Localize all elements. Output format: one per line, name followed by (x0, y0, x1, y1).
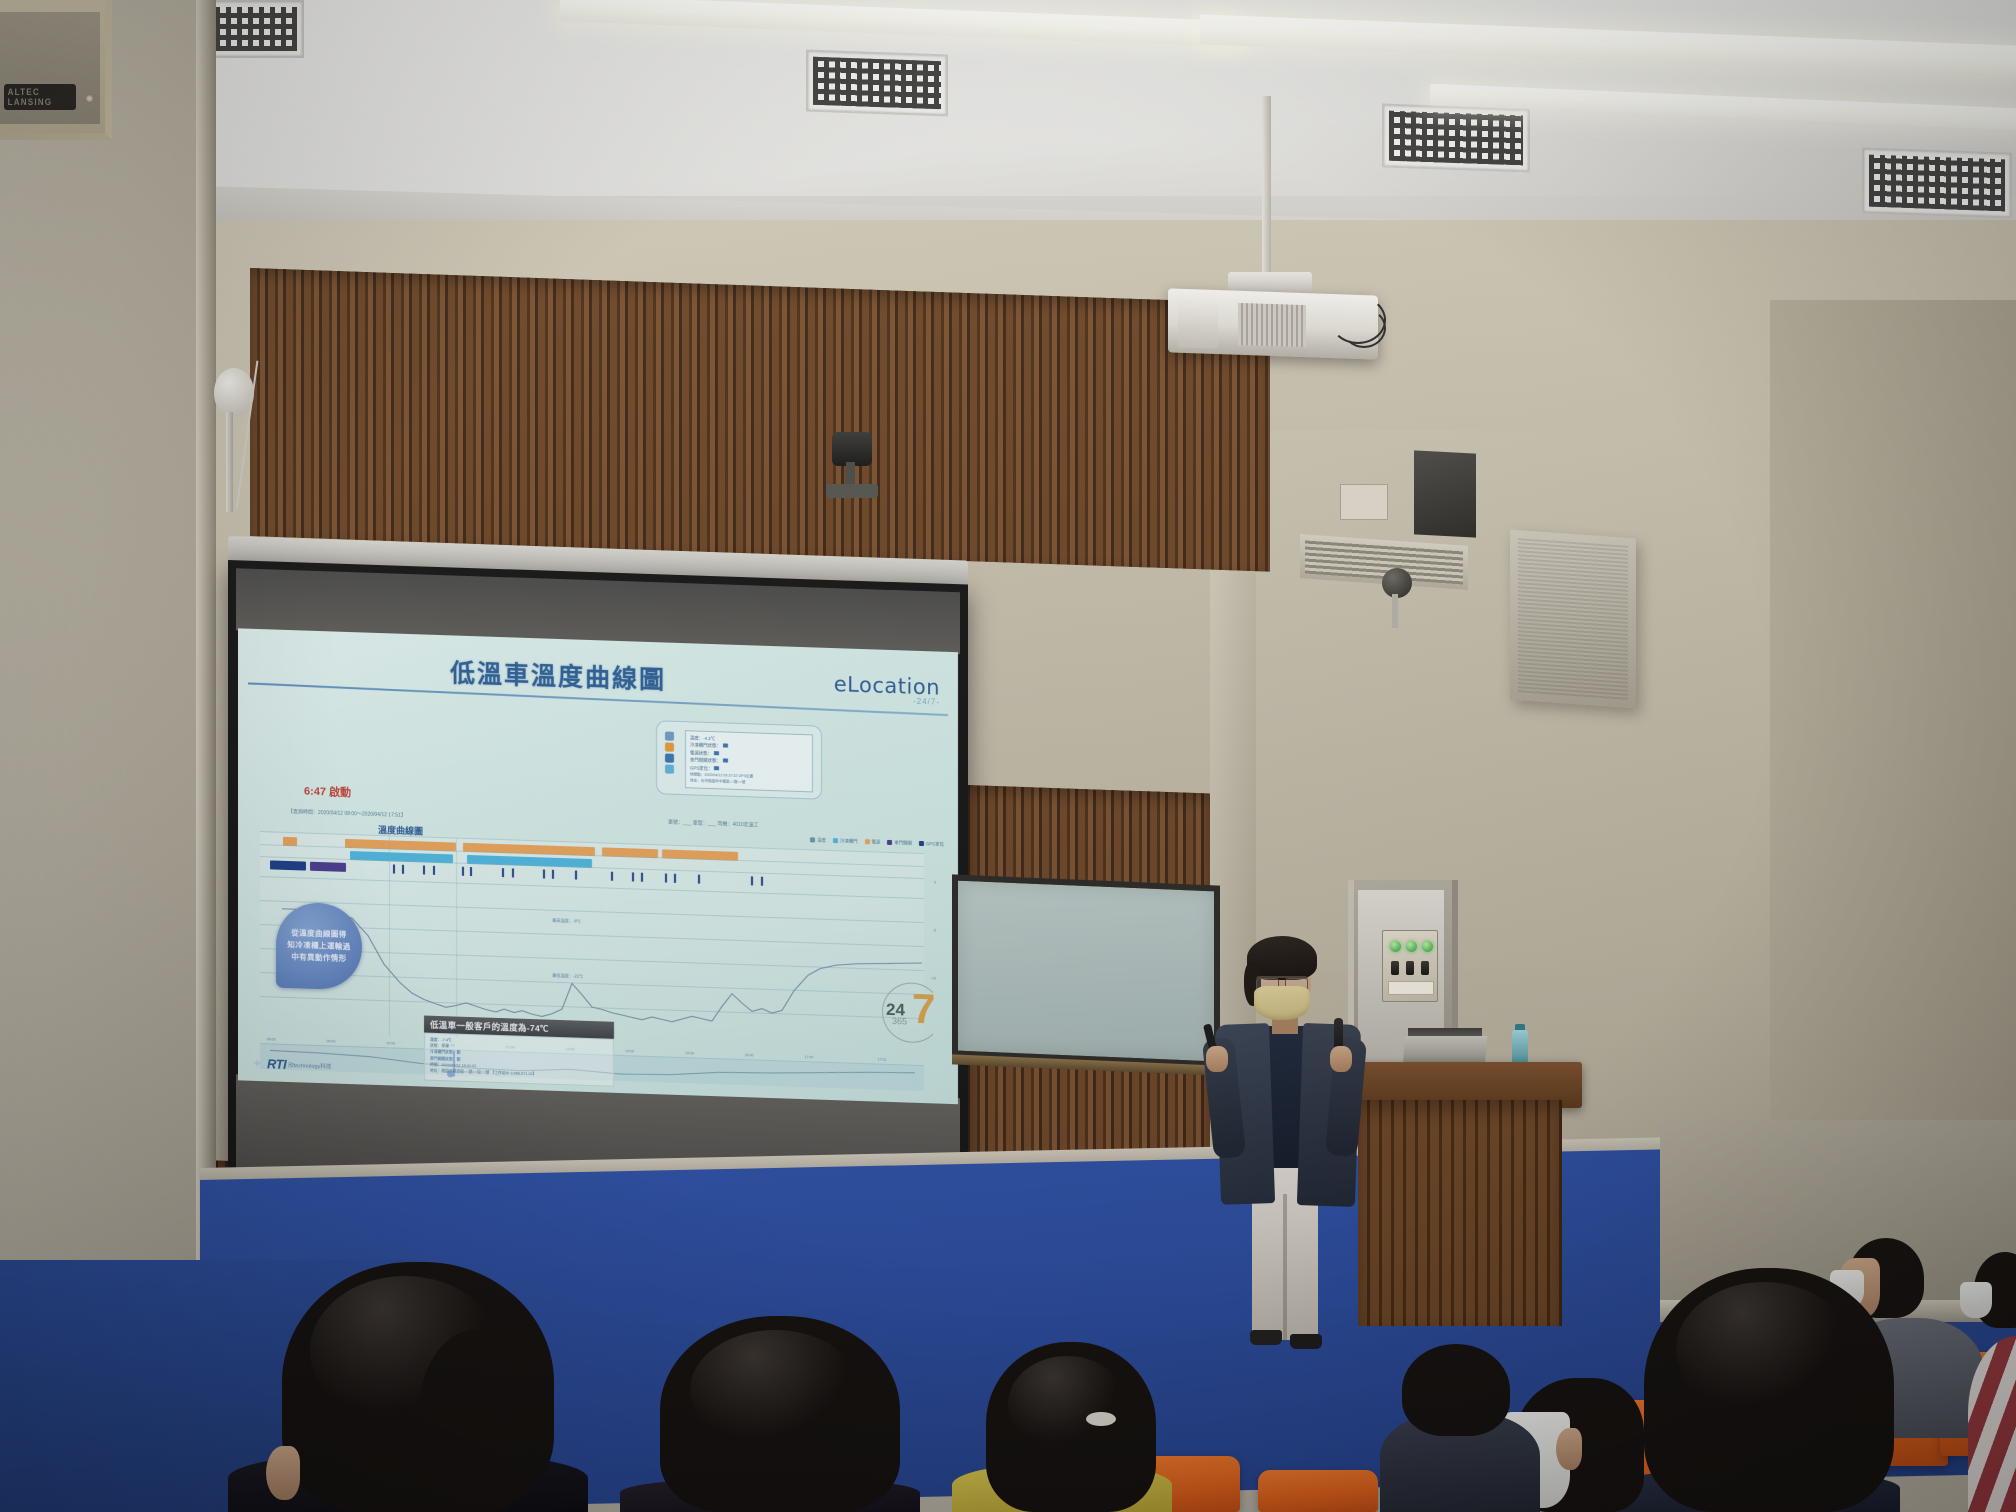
legend-marker-power-icon (865, 839, 870, 844)
legend-swatch (723, 759, 728, 763)
projector-cable (1342, 308, 1386, 348)
speaker-brand-badge: ALTEC LANSING (4, 84, 76, 110)
speaker-brand-label: ALTEC LANSING (8, 87, 73, 107)
rti-footer-logo: ✦ RTI 欣technology科技 (252, 1056, 331, 1074)
y-tick-label: 5 (934, 880, 936, 884)
wall-speaker-housing: ALTEC LANSING (0, 0, 112, 140)
audience-head (1402, 1344, 1510, 1436)
rti-wordmark: RTI (267, 1056, 286, 1072)
legend-swatch (714, 766, 719, 770)
legend-pin-column (665, 731, 679, 775)
audience-hair-tie (1086, 1412, 1116, 1426)
indicator-light-icon (1390, 941, 1401, 952)
star-icon: ✦ (252, 1057, 265, 1070)
projector-vent (1238, 303, 1306, 347)
callout-line: 中有異動作情形 (291, 951, 346, 965)
x-tick-label: 08:00 (267, 1037, 276, 1041)
wall-speaker-small (1414, 450, 1476, 537)
y-tick-label: -15 (931, 976, 936, 980)
x-tick-label: 10:00 (386, 1041, 395, 1045)
dome-camera-arm (1392, 594, 1398, 628)
x-tick-label: 14:00 (625, 1049, 634, 1053)
badge-seven: 7 (912, 988, 935, 1031)
x-tick-label: 17:00 (804, 1055, 813, 1059)
legend-rows: 溫度：-4.2℃ 冷凍櫃門狀態： 電源狀態： 車門開關狀態： GPS定位： 時間… (685, 730, 813, 792)
speaker-screw (86, 95, 93, 102)
toggle-switch[interactable] (1406, 961, 1414, 975)
x-tick-label: 17:51 (878, 1058, 887, 1062)
y-tick-label: -5 (933, 928, 936, 932)
legend-text: 溫度 (817, 838, 826, 843)
camera-base (826, 484, 878, 498)
chart-alert-label: 6:47 啟動 (304, 783, 351, 801)
wood-slat-panel-upper (250, 268, 1270, 572)
wall-outlet-panel[interactable] (1340, 484, 1388, 520)
legend-row-label: 電源狀態： (690, 750, 712, 756)
map-legend-tooltip: 溫度：-4.2℃ 冷凍櫃門狀態： 電源狀態： 車門開關狀態： GPS定位： 時間… (656, 720, 822, 800)
presenter-shoe-right (1290, 1334, 1322, 1349)
legend-row-label: 溫度：-4.2℃ (690, 735, 715, 741)
pan-tilt-camera (832, 432, 872, 466)
legend-pin-power-icon (665, 742, 674, 751)
legend-swatch (714, 751, 719, 755)
wall-control-panel[interactable] (1382, 930, 1438, 1002)
slide-banner-text: 低溫車一般客戶的溫度為-74℃ (430, 1018, 549, 1034)
curve-annotation-min: 最低溫度：-22℃ (552, 973, 583, 980)
presenter-hand-right (1330, 1046, 1352, 1072)
ceiling-vent (208, 0, 304, 58)
legend-text: 電源 (872, 839, 881, 844)
presenter-face-mask (1254, 986, 1310, 1020)
control-panel-label-plate (1388, 981, 1434, 995)
elocation-logo: eLocation (834, 672, 940, 700)
legend-marker-door-switch-icon (887, 840, 892, 845)
ceiling-vent (806, 50, 948, 117)
x-tick-label: 16:00 (745, 1053, 754, 1057)
legend-row-label: GPS定位： (690, 765, 712, 771)
chart-vehicle-meta: 車號：___ 車型：___ 司機：4010定溫工 (668, 819, 759, 829)
audience-hair-bun (418, 1330, 536, 1512)
legend-row-label: 車門開關狀態： (690, 758, 721, 764)
toggle-switch[interactable] (1391, 961, 1399, 975)
water-bottle (1512, 1030, 1528, 1064)
audience-hair-highlight (690, 1330, 860, 1450)
projector-mount-pole (1262, 96, 1271, 286)
chart-series-legend: 溫度冷凍櫃門電源車門開關GPS定位 (803, 837, 944, 848)
audience-hair-highlight (1676, 1282, 1852, 1418)
x-tick-label: 15:00 (685, 1051, 694, 1055)
legend-text: 冷凍櫃門 (840, 838, 858, 844)
auditorium-seat (1258, 1470, 1378, 1512)
toggle-switch[interactable] (1421, 961, 1429, 975)
projector-lens (1178, 299, 1218, 348)
ceiling-vent (1862, 147, 2012, 218)
legend-marker-temperature-icon (810, 838, 815, 843)
presenter-shoe-left (1250, 1330, 1282, 1345)
legend-marker-gps-icon (919, 841, 924, 846)
projected-slide: 低溫車溫度曲線圖 eLocation -24/7- 溫度：-4.2℃ 冷凍櫃門狀… (238, 628, 958, 1104)
badge-365: 365 (892, 1016, 907, 1026)
ceiling-hook-fixture (214, 368, 254, 416)
legend-swatch (723, 744, 728, 748)
rti-sub-label: 欣technology科技 (288, 1060, 331, 1069)
legend-row-label: 冷凍櫃門狀態： (690, 743, 721, 749)
control-switches[interactable] (1391, 961, 1429, 975)
control-indicator-lights (1390, 941, 1433, 952)
audience-ear (1556, 1428, 1582, 1470)
x-tick-label: 09:00 (326, 1039, 335, 1043)
legend-pin-temperature-icon (665, 731, 674, 740)
elocation-logo-sub: -24/7- (913, 697, 940, 707)
ceiling-hook-rod (226, 412, 233, 512)
legend-text: 車門開關 (894, 840, 912, 846)
legend-pin-gps-icon (665, 764, 674, 773)
audience-ponytail (1740, 1398, 1844, 1512)
indicator-light-icon (1422, 941, 1433, 952)
ceiling-vent (1382, 103, 1530, 172)
audience-ear (266, 1446, 300, 1500)
audience-hair-highlight (1008, 1356, 1126, 1452)
curve-annotation-max: 最高溫度：-8℃ (552, 917, 581, 924)
legend-pin-door-icon (665, 753, 674, 762)
presenter-hand-left (1206, 1046, 1228, 1072)
slide-title: 低溫車溫度曲線圖 (450, 653, 666, 696)
lecture-hall-scene: ALTEC LANSING 低溫車溫度曲線圖 eLocation -24/7- (0, 0, 2016, 1512)
audience-face-mask (1960, 1282, 1992, 1318)
slide-info-box: 溫度：-7.4℃ 狀態：停車 冷凍櫃門狀態：關 車門開關狀態：關 時間：2020… (424, 1033, 614, 1087)
wall-speaker-large (1510, 530, 1636, 709)
legend-text: GPS定位 (926, 841, 944, 847)
chart-query-range: 【查詢時間：2020/04/12 08:00～2020/04/12 17:51】 (288, 808, 406, 819)
podium (1358, 1100, 1562, 1326)
legend-marker-freezer-door-icon (833, 838, 838, 843)
projection-screen[interactable]: 低溫車溫度曲線圖 eLocation -24/7- 溫度：-4.2℃ 冷凍櫃門狀… (228, 560, 968, 1205)
indicator-light-icon (1406, 941, 1417, 952)
whiteboard (952, 874, 1220, 1067)
service-247-badge: 7 24 365 (880, 980, 944, 1046)
